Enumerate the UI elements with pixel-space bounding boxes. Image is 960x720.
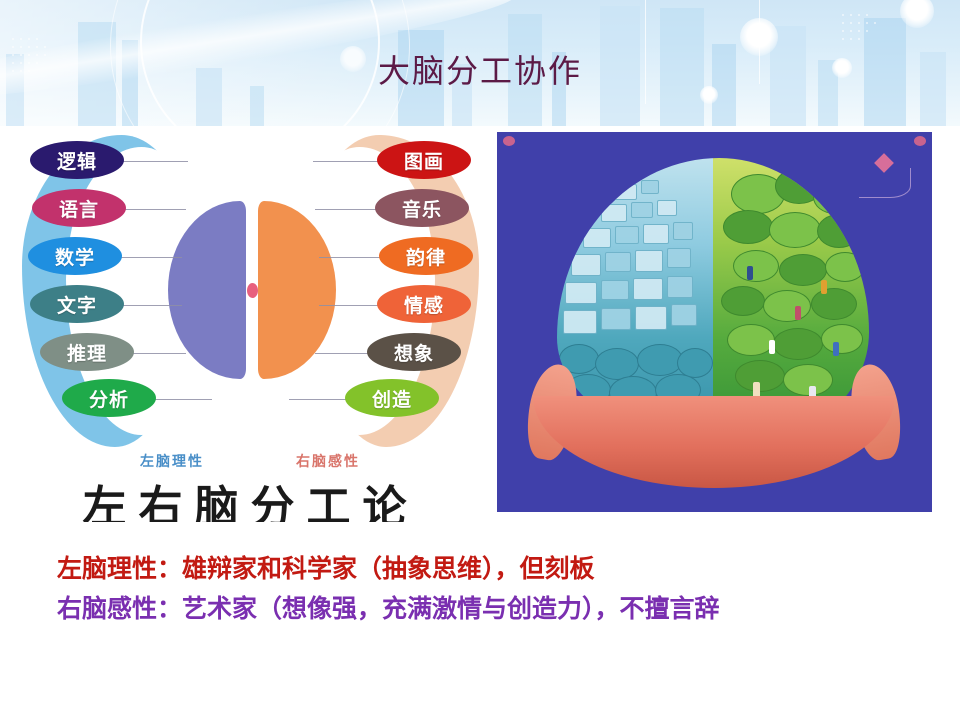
brain-city-nature-illustration: [497, 132, 932, 512]
left-hemisphere-caption: 左脑理性: [140, 451, 204, 471]
caption-left-brain: 左脑理性：雄辩家和科学家（抽象思维），但刻板: [57, 549, 595, 585]
slide-title: 大脑分工协作: [0, 46, 960, 92]
palm-shape: [533, 396, 895, 488]
hands-holding-brain: [533, 370, 895, 488]
left-label-analysis: 分析: [62, 379, 156, 417]
right-label-emotion: 情感: [377, 285, 471, 323]
left-label-reasoning: 推理: [40, 333, 134, 371]
figure-title: 左右脑分工论: [18, 471, 483, 522]
right-label-rhythm: 韵律: [379, 237, 473, 275]
presentation-slide: 大脑分工协作 逻辑 语言 数学 文字 推理 分析 图画 音乐 韵律 情感: [0, 0, 960, 720]
connector-line: [132, 353, 186, 354]
connector-line: [319, 305, 379, 306]
connector-line: [313, 161, 379, 162]
left-label-language: 语言: [32, 189, 126, 227]
connector-line: [319, 257, 381, 258]
right-label-music: 音乐: [375, 189, 469, 227]
connector-line: [315, 209, 377, 210]
slide-header-banner: 大脑分工协作: [0, 0, 960, 126]
connector-line: [122, 161, 188, 162]
left-label-writing: 文字: [30, 285, 124, 323]
left-right-brain-diagram: 逻辑 语言 数学 文字 推理 分析 图画 音乐 韵律 情感 想象 创造 左脑理性…: [18, 127, 483, 522]
connector-line: [122, 305, 182, 306]
right-label-creation: 创造: [345, 379, 439, 417]
right-label-picture: 图画: [377, 141, 471, 179]
connector-line: [289, 399, 347, 400]
brain-stem-dot: [247, 283, 258, 298]
right-hemisphere-caption: 右脑感性: [296, 451, 360, 471]
caption-right-brain: 右脑感性：艺术家（想像强，充满激情与创造力），不擅言辞: [57, 589, 720, 625]
connector-line: [124, 209, 186, 210]
right-label-imagination: 想象: [367, 333, 461, 371]
connector-line: [154, 399, 212, 400]
connector-line: [120, 257, 182, 258]
left-label-logic: 逻辑: [30, 141, 124, 179]
left-label-math: 数学: [28, 237, 122, 275]
brain-illustration: [511, 142, 917, 498]
connector-line: [315, 353, 369, 354]
